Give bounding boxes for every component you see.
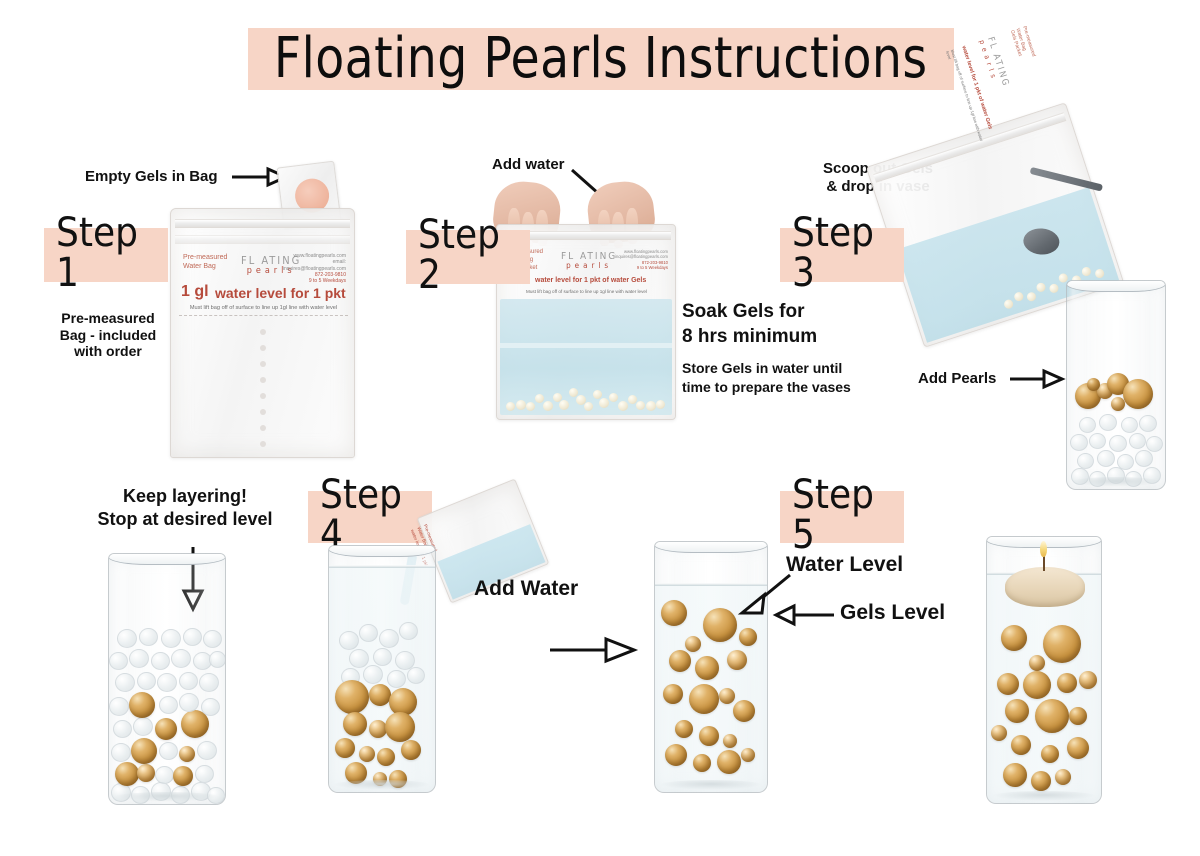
bag-print-hours: 9 to 5 Weekdays: [283, 278, 346, 284]
page-title-banner: Floating Pearls Instructions: [248, 28, 954, 90]
annotation-gels-level: Gels Level: [840, 601, 945, 626]
vase-layering: [108, 553, 226, 805]
water-bag-photo-step1: Pre-measured Water Bag FL ATING pearls w…: [170, 208, 355, 458]
step-2-group: Add water Pre-mea: [400, 120, 700, 450]
step-3-badge: Step 3: [780, 228, 904, 282]
annotation-water-level: Water Level: [786, 553, 903, 578]
step-5-badge: Step 5: [780, 491, 904, 543]
step-2-badge: Step 2: [406, 230, 530, 284]
step-5-group: Step 5: [640, 485, 970, 825]
arrow-right-icon-to-step5: [550, 635, 640, 665]
floating-candle: [1005, 567, 1085, 607]
annotation-add-pearls: Add Pearls: [918, 370, 996, 388]
candle-flame: [1040, 541, 1047, 557]
step-3-group: Scoop out Gels & drop in vase Pre-measur…: [770, 120, 1200, 480]
annotation-keep-layering: Keep layering! Stop at desired level: [60, 485, 310, 530]
pearls-final: [987, 611, 1101, 803]
gel-beads-in-bag: [503, 381, 669, 411]
annotation-empty-gels-in-bag: Empty Gels in Bag: [85, 168, 218, 186]
infographic-canvas: Floating Pearls Instructions Empty Gels …: [0, 0, 1200, 856]
pearls-step5: [655, 586, 767, 792]
step-4-group: Step 4 Pre-measured Water Bag water leve…: [300, 485, 650, 825]
layered-contents: [109, 622, 225, 804]
gold-pearls-layer-step3: [1067, 363, 1165, 411]
bag-print-inquiries: inquires@floatingpearls.com: [283, 266, 346, 272]
candle-wick: [1043, 555, 1045, 571]
vase-step3: [1066, 280, 1166, 490]
annotation-add-water-bag: Add water: [492, 156, 565, 174]
step-1-group: Empty Gels in Bag Pre-measured Water Bag…: [0, 120, 400, 450]
final-result-group: [960, 520, 1140, 820]
arrow-right-icon-add-pearls: [1010, 368, 1066, 390]
bag-seam-dots: [260, 329, 266, 455]
bag-print-water-level-label: water level for 1 pkt: [215, 285, 346, 301]
annotation-pre-measured-bag: Pre-measured Bag - included with order: [38, 310, 178, 360]
arrow-left-icon-gels-level: [770, 603, 836, 627]
vase-step4: [328, 545, 436, 793]
page-title: Floating Pearls Instructions: [274, 31, 928, 87]
bag-print-water-bag: Water Bag: [183, 262, 227, 271]
contents-step4: [329, 568, 435, 792]
bag-print-pre-measured: Pre-measured: [183, 253, 227, 262]
bag-print-volume: 1 gl: [181, 283, 209, 301]
annotation-add-water-vase: Add Water: [474, 577, 578, 602]
clear-gels-layer-step3: [1067, 399, 1165, 489]
bag-print-fine-print: Must lift bag off of surface to line up …: [179, 305, 348, 311]
vase-final-with-candle: [986, 536, 1102, 804]
step-1-badge: Step 1: [44, 228, 168, 282]
